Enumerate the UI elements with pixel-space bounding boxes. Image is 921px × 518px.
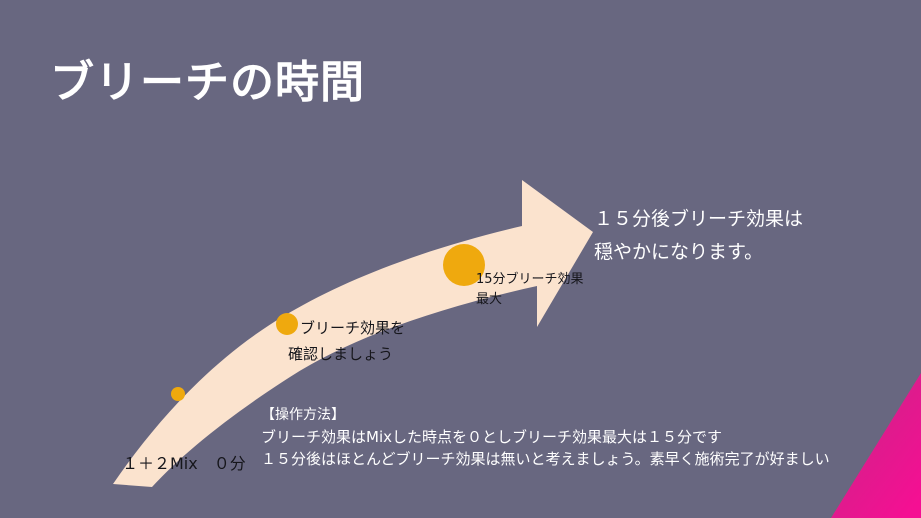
- callout-text: １５分後ブリーチ効果は 穏やかになります。: [594, 203, 803, 269]
- marker-dot-start: [171, 387, 185, 401]
- marker-label-start: １＋２Mix ０分: [122, 452, 246, 476]
- note-line-1: ブリーチ効果はMixした時点を０としブリーチ効果最大は１５分です: [261, 426, 830, 448]
- marker-label-peak-line2: 最大: [476, 289, 502, 311]
- note-line-2: １５分後はほとんどブリーチ効果は無いと考えましょう。素早く施術完了が好ましい: [261, 448, 830, 470]
- marker-dot-mid: [276, 313, 298, 335]
- marker-label-mid-line2: 確認しましょう: [288, 341, 393, 367]
- callout-line-2: 穏やかになります。: [594, 236, 803, 269]
- instruction-note: 【操作方法】 ブリーチ効果はMixした時点を０としブリーチ効果最大は１５分です …: [261, 404, 830, 470]
- note-heading: 【操作方法】: [261, 404, 830, 426]
- slide-canvas: ブリーチの時間 １＋２Mix ０分 ブリーチ効果を 確認しましょう 15分ブリー…: [0, 0, 921, 518]
- callout-line-1: １５分後ブリーチ効果は: [594, 203, 803, 236]
- marker-label-peak-line1: 15分ブリーチ効果: [476, 269, 584, 291]
- marker-label-mid-line1: ブリーチ効果を: [300, 315, 405, 341]
